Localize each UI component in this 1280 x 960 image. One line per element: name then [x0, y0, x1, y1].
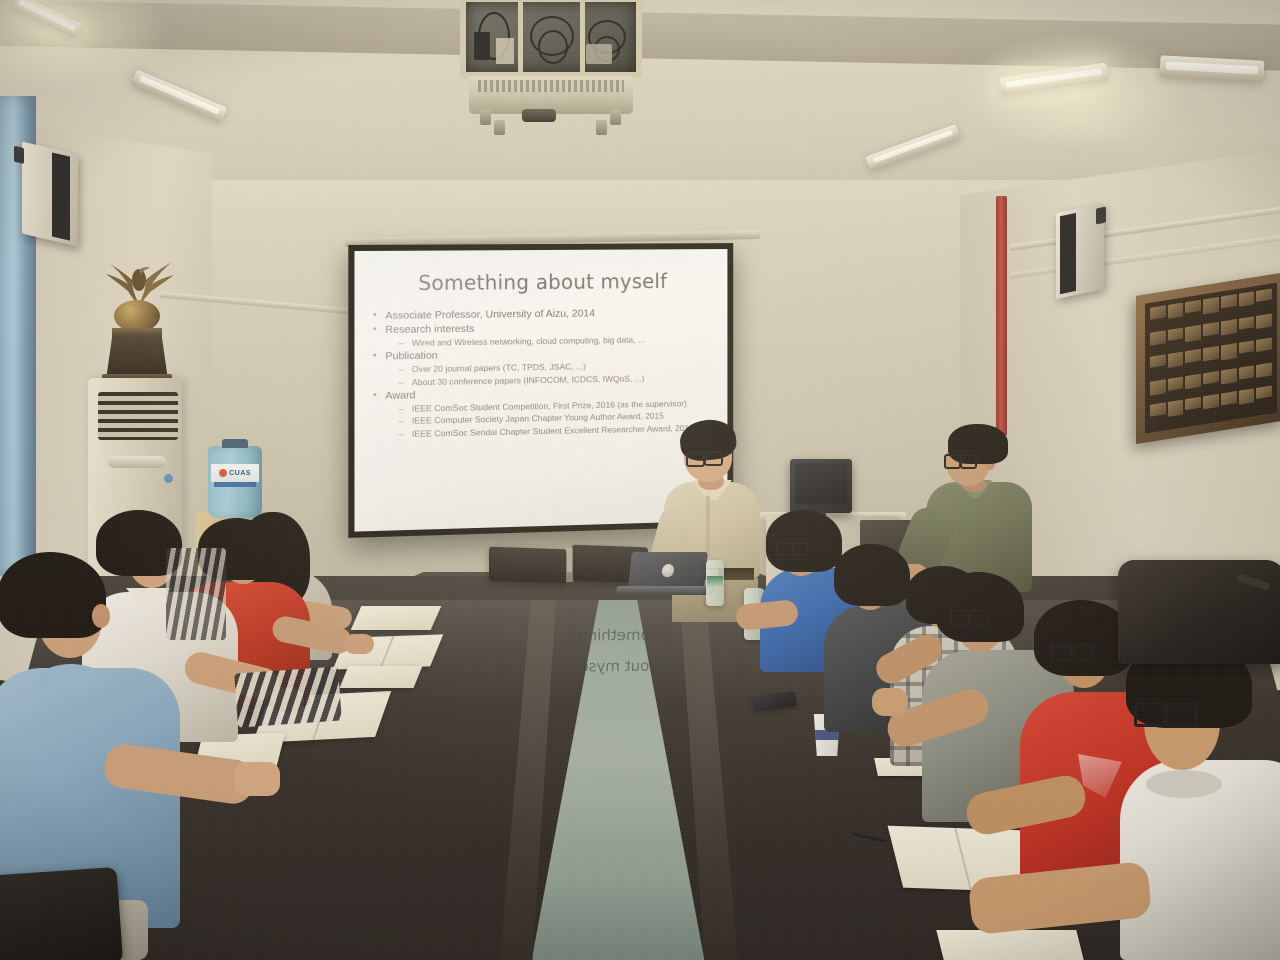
ac-vent — [98, 392, 178, 440]
projector-vent — [478, 80, 624, 92]
striped-chair-cover — [166, 548, 226, 640]
seminar-room-photo: CUAS S — [0, 0, 1280, 960]
macbook-laptop[interactable] — [628, 552, 708, 588]
attendee-right-6 — [1120, 640, 1280, 960]
projector-lens — [522, 109, 556, 122]
ceiling-projector — [460, 0, 642, 136]
red-wall-pipe — [996, 196, 1007, 436]
bag-strap — [1236, 573, 1271, 591]
laptop-base — [615, 586, 715, 595]
eagle-trophy — [92, 258, 184, 386]
attendee-hand — [872, 688, 908, 716]
striped-bag — [234, 666, 342, 727]
slide-title: Something about myself — [367, 269, 716, 296]
monitor-screen — [795, 463, 847, 504]
water-cooler-bottle: CUAS — [208, 446, 262, 518]
slide-bullet: Associate Professor, University of Aizu,… — [385, 306, 716, 322]
bottle-label: CUAS — [211, 464, 259, 482]
attendee-collar — [40, 664, 102, 692]
bottle-label-stripe — [214, 482, 256, 487]
attendee-hand — [344, 634, 374, 654]
bottle-brand: CUAS — [229, 470, 251, 477]
notebook[interactable] — [340, 666, 423, 688]
bottle-cap — [222, 439, 248, 448]
ac-indicator-light — [164, 474, 173, 483]
framed-calligraphy-plaque — [1136, 272, 1280, 444]
attendee-hair — [936, 572, 1024, 642]
projector-cage — [460, 0, 642, 78]
chair-back-foreground — [0, 867, 123, 960]
attendee-ear — [92, 604, 110, 628]
notebook[interactable] — [936, 930, 1083, 960]
bottle-logo-mark — [219, 469, 227, 477]
wall-speaker-right — [1056, 203, 1104, 299]
plaque-inner — [1145, 283, 1277, 434]
apple-logo-icon — [661, 564, 674, 577]
chair-gap — [566, 548, 573, 582]
ceiling-light-glow-right — [960, 30, 1190, 150]
attendee-hair — [0, 552, 106, 638]
podium-monitor — [790, 459, 852, 513]
black-backpack[interactable] — [1118, 560, 1280, 664]
attendee-hand — [234, 762, 280, 796]
attendee-collar — [1146, 770, 1222, 798]
water-bottle[interactable] — [706, 560, 724, 606]
chair-back — [489, 547, 567, 584]
presenter-shirt-placket — [706, 496, 710, 558]
wall-speaker-left — [22, 142, 78, 247]
notebook[interactable] — [351, 606, 442, 630]
ac-badge — [108, 456, 166, 468]
